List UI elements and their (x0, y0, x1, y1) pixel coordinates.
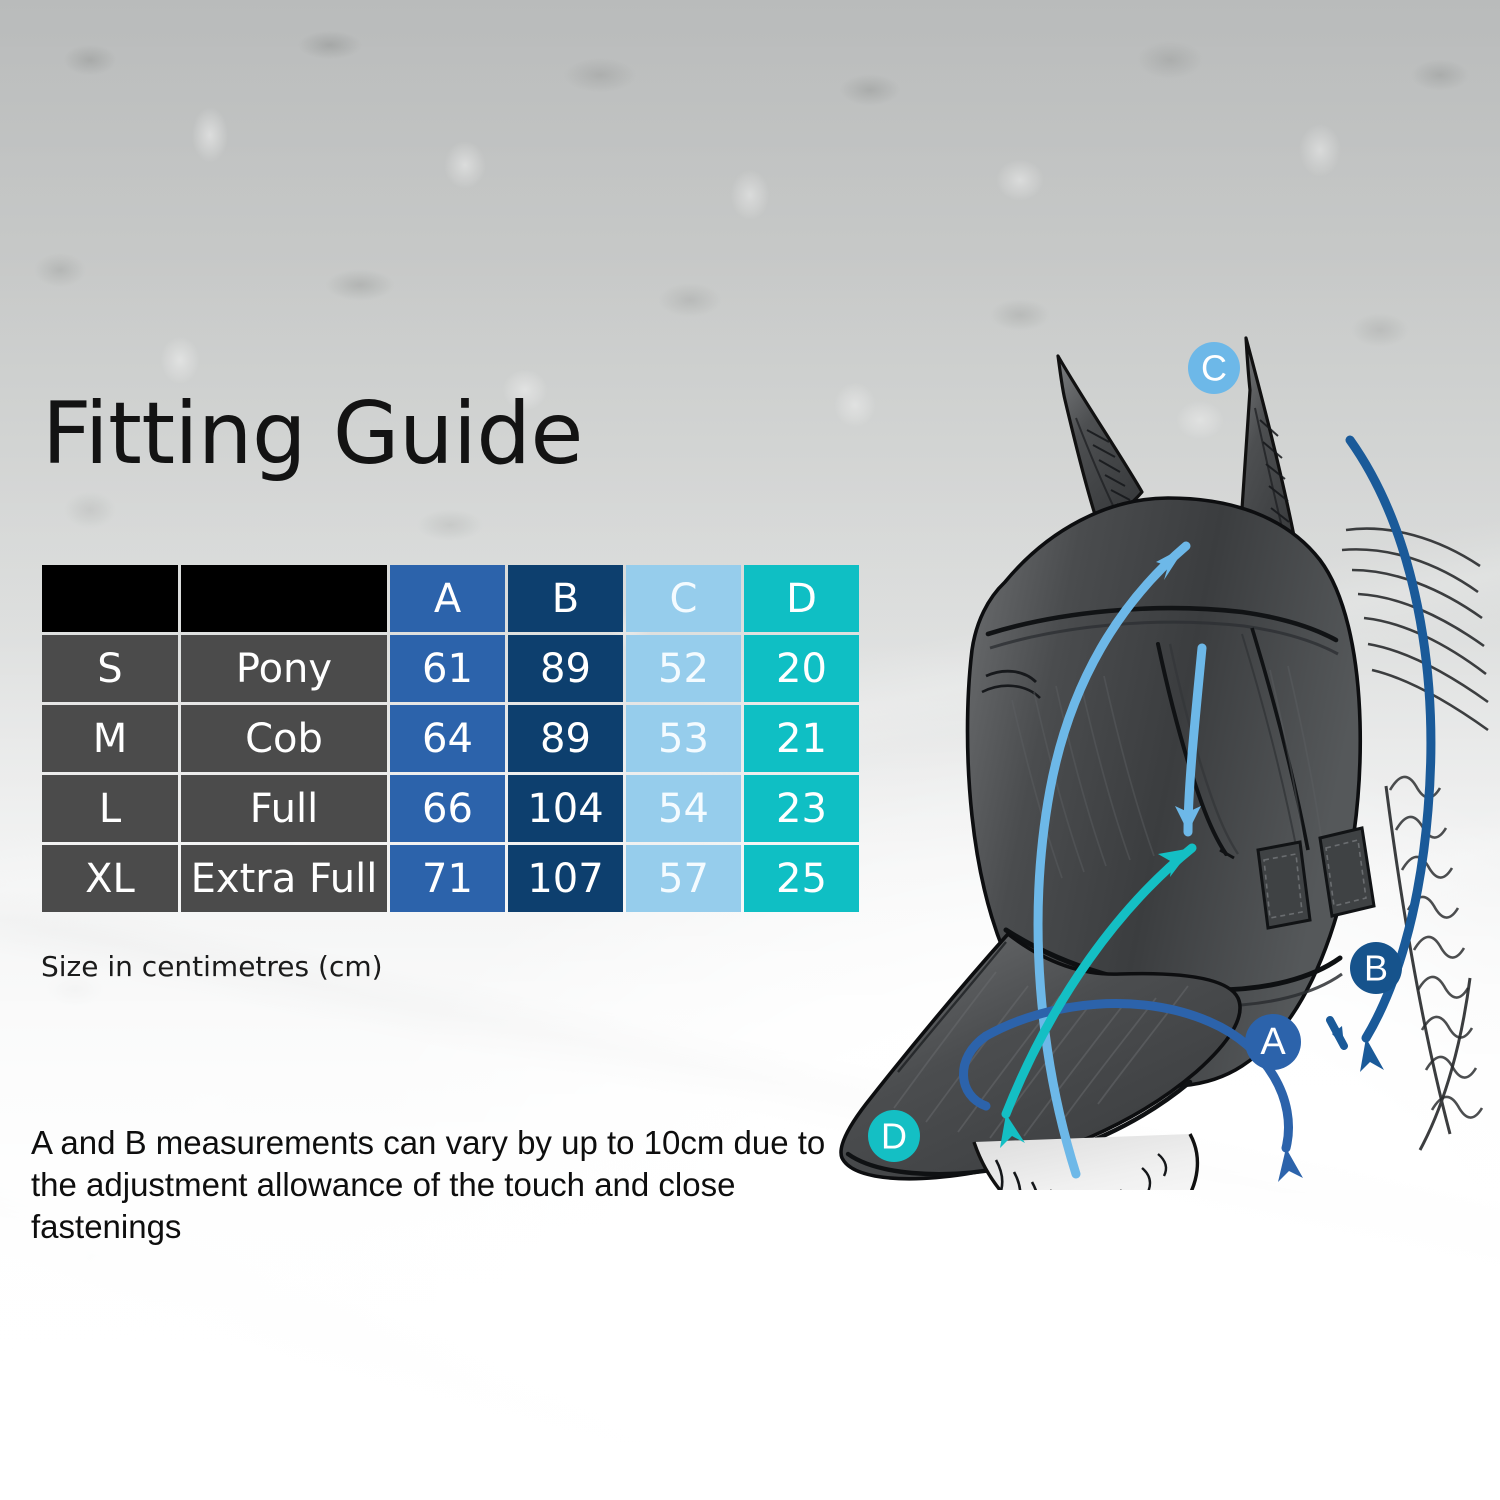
horse-head-sketch (841, 338, 1488, 1190)
row-value-b: 107 (508, 845, 623, 912)
row-size-name: Full (181, 775, 387, 842)
row-value-b: 89 (508, 705, 623, 772)
measure-arrow-b-ticks (1330, 1020, 1344, 1046)
row-size-label: M (42, 705, 178, 772)
row-size-name: Extra Full (181, 845, 387, 912)
table-caption: Size in centimetres (cm) (41, 950, 383, 983)
page-title: Fitting Guide (42, 391, 583, 477)
marker-badge-c: C (1188, 342, 1240, 394)
table-row: XL Extra Full 71 107 57 25 (42, 845, 859, 912)
row-size-label: L (42, 775, 178, 842)
table-row: M Cob 64 89 53 21 (42, 705, 859, 772)
marker-badge-d: D (868, 1110, 920, 1162)
measurement-disclaimer: A and B measurements can vary by up to 1… (31, 1122, 831, 1249)
marker-label-c: C (1201, 348, 1227, 389)
row-value-b: 89 (508, 635, 623, 702)
row-value-a: 64 (390, 705, 505, 772)
row-value-c: 57 (626, 845, 741, 912)
header-column-c: C (626, 565, 741, 632)
marker-badge-a: A (1245, 1014, 1301, 1070)
table-row: S Pony 61 89 52 20 (42, 635, 859, 702)
header-column-b: B (508, 565, 623, 632)
row-value-b: 104 (508, 775, 623, 842)
row-size-name: Pony (181, 635, 387, 702)
table-row: L Full 66 104 54 23 (42, 775, 859, 842)
marker-badge-b: B (1350, 942, 1402, 994)
horse-muzzle-nose (974, 1134, 1197, 1190)
row-size-label: S (42, 635, 178, 702)
marker-label-b: B (1364, 948, 1388, 989)
row-value-c: 52 (626, 635, 741, 702)
size-chart-table: A B C D S Pony 61 89 52 20 M Cob 64 89 5… (39, 562, 862, 915)
header-blank-name (181, 565, 387, 632)
marker-label-a: A (1260, 1021, 1286, 1063)
row-value-c: 53 (626, 705, 741, 772)
marker-label-d: D (881, 1116, 907, 1157)
header-blank-size (42, 565, 178, 632)
header-column-a: A (390, 565, 505, 632)
fitting-guide-infographic: Fitting Guide A B C D S Pony 61 89 52 20… (0, 0, 1500, 1500)
row-size-label: XL (42, 845, 178, 912)
row-value-a: 71 (390, 845, 505, 912)
row-value-a: 66 (390, 775, 505, 842)
horse-fly-mask-diagram: C B A D (790, 230, 1500, 1190)
row-value-a: 61 (390, 635, 505, 702)
left-ear (1058, 356, 1142, 524)
row-value-c: 54 (626, 775, 741, 842)
row-size-name: Cob (181, 705, 387, 772)
table-header-row: A B C D (42, 565, 859, 632)
mane (1342, 529, 1488, 730)
